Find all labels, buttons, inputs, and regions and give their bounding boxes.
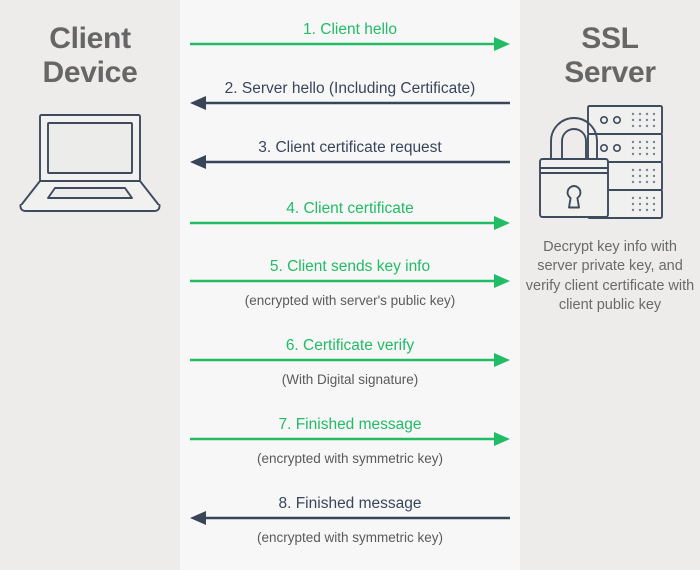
step-8-sublabel: (encrypted with symmetric key) <box>180 531 520 545</box>
step-6-arrow-right <box>190 352 510 368</box>
step-8-arrow-left <box>190 510 510 526</box>
step-5-arrow-right <box>190 273 510 289</box>
step-1-arrow-right <box>190 36 510 52</box>
step-7-arrow-right <box>190 431 510 447</box>
step-7-sublabel: (encrypted with symmetric key) <box>180 452 520 466</box>
client-title-line1: Client <box>0 22 180 56</box>
ssl-handshake-diagram: Client Device SSL Server <box>0 0 700 570</box>
client-title-line2: Device <box>0 56 180 90</box>
step-2-arrow-left <box>190 95 510 111</box>
step-4-arrow-right <box>190 215 510 231</box>
server-lock-icon <box>538 103 666 228</box>
step-5-sublabel: (encrypted with server's public key) <box>180 294 520 308</box>
server-title: SSL Server <box>520 22 700 89</box>
step-3-arrow-left <box>190 154 510 170</box>
server-title-line2: Server <box>520 56 700 90</box>
laptop-icon <box>18 112 162 217</box>
server-note: Decrypt key info with server private key… <box>523 238 697 315</box>
server-title-line1: SSL <box>520 22 700 56</box>
step-6-sublabel: (With Digital signature) <box>180 373 520 387</box>
client-title: Client Device <box>0 22 180 89</box>
